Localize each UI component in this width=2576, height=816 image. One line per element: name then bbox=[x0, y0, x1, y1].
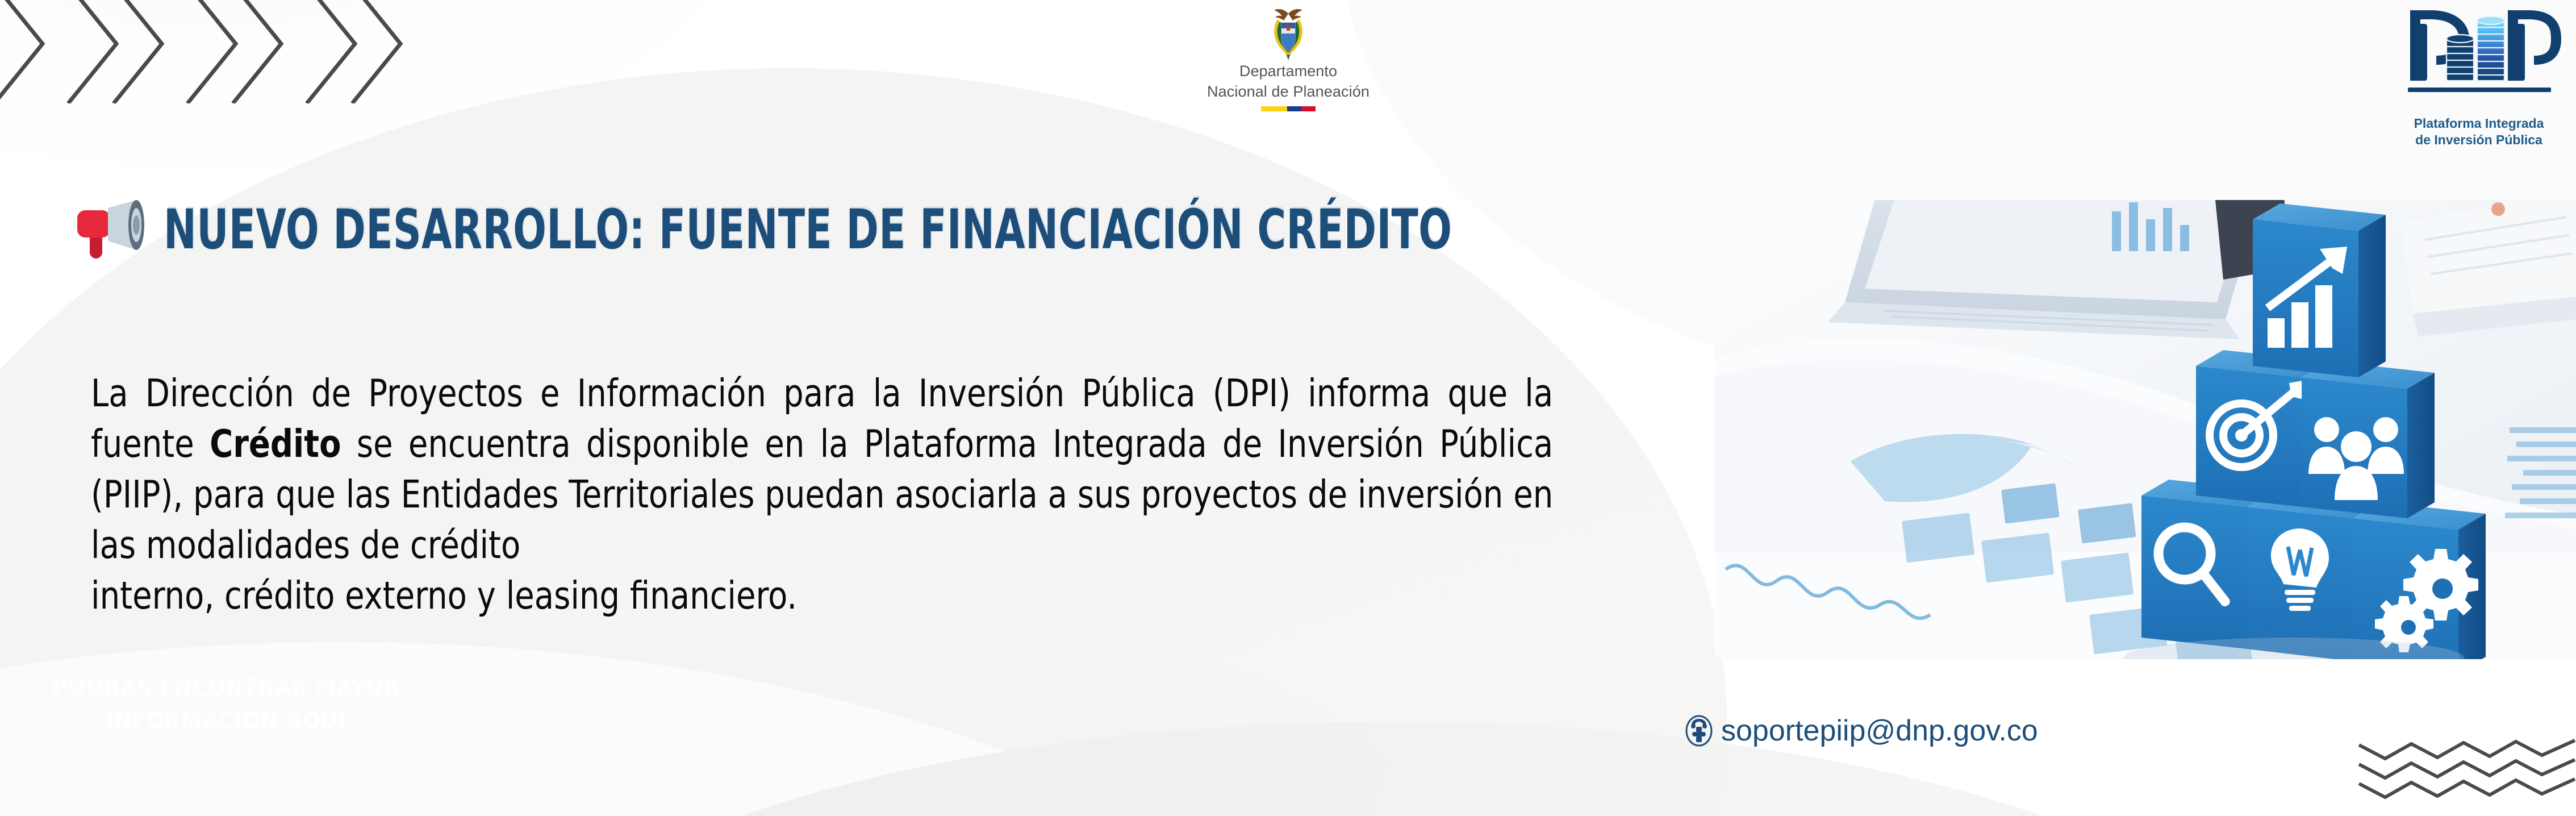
dnp-logo: Departamento Nacional de Planeación bbox=[1197, 6, 1379, 111]
cta-line-1: PODRÁS ENCONTRAR MAYOR bbox=[52, 671, 399, 704]
colombia-coat-of-arms-icon bbox=[1267, 6, 1309, 60]
dnp-name-line2: Nacional de Planeación bbox=[1197, 83, 1379, 101]
headline-row: NUEVO DESARROLLO: FUENTE DE FINANCIACIÓN… bbox=[73, 198, 1774, 261]
more-info-cta[interactable]: PODRÁS ENCONTRAR MAYOR INFORMACIÓN AQUÍ bbox=[10, 669, 442, 739]
piip-logo: Plataforma Integrada de Inversión Públic… bbox=[2385, 1, 2573, 148]
paragraph-emphasis-credito: Crédito bbox=[210, 422, 341, 466]
piip-caption-line2: de Inversión Pública bbox=[2385, 132, 2573, 148]
piip-caption-line1: Plataforma Integrada bbox=[2385, 115, 2573, 131]
flag-stripe-blue bbox=[1287, 106, 1301, 111]
announcement-paragraph: La Dirección de Proyectos e Información … bbox=[91, 368, 1553, 622]
chevron-decoration bbox=[0, 0, 415, 106]
dnp-name-line1: Departamento bbox=[1197, 63, 1379, 81]
piip-monogram-icon bbox=[2397, 1, 2561, 115]
cta-line-2: INFORMACIÓN AQUÍ bbox=[106, 704, 346, 737]
banner-canvas: Departamento Nacional de Planeación bbox=[0, 0, 2576, 816]
hero-photo bbox=[1714, 200, 2576, 659]
flag-stripe-yellow bbox=[1261, 106, 1287, 111]
zigzag-decoration bbox=[2352, 737, 2576, 814]
colombia-flag-bar bbox=[1261, 106, 1316, 111]
hero-photo-illustration bbox=[1714, 200, 2576, 659]
megaphone-icon bbox=[73, 198, 148, 261]
flag-stripe-red bbox=[1301, 106, 1316, 111]
paragraph-last-line: interno, crédito externo y leasing finan… bbox=[91, 571, 1553, 621]
support-contact[interactable]: soportepiip@dnp.gov.co bbox=[1685, 715, 2038, 747]
page-title: NUEVO DESARROLLO: FUENTE DE FINANCIACIÓN… bbox=[164, 202, 1452, 257]
support-email[interactable]: soportepiip@dnp.gov.co bbox=[1721, 716, 2038, 746]
telephone-icon bbox=[1685, 715, 1713, 747]
